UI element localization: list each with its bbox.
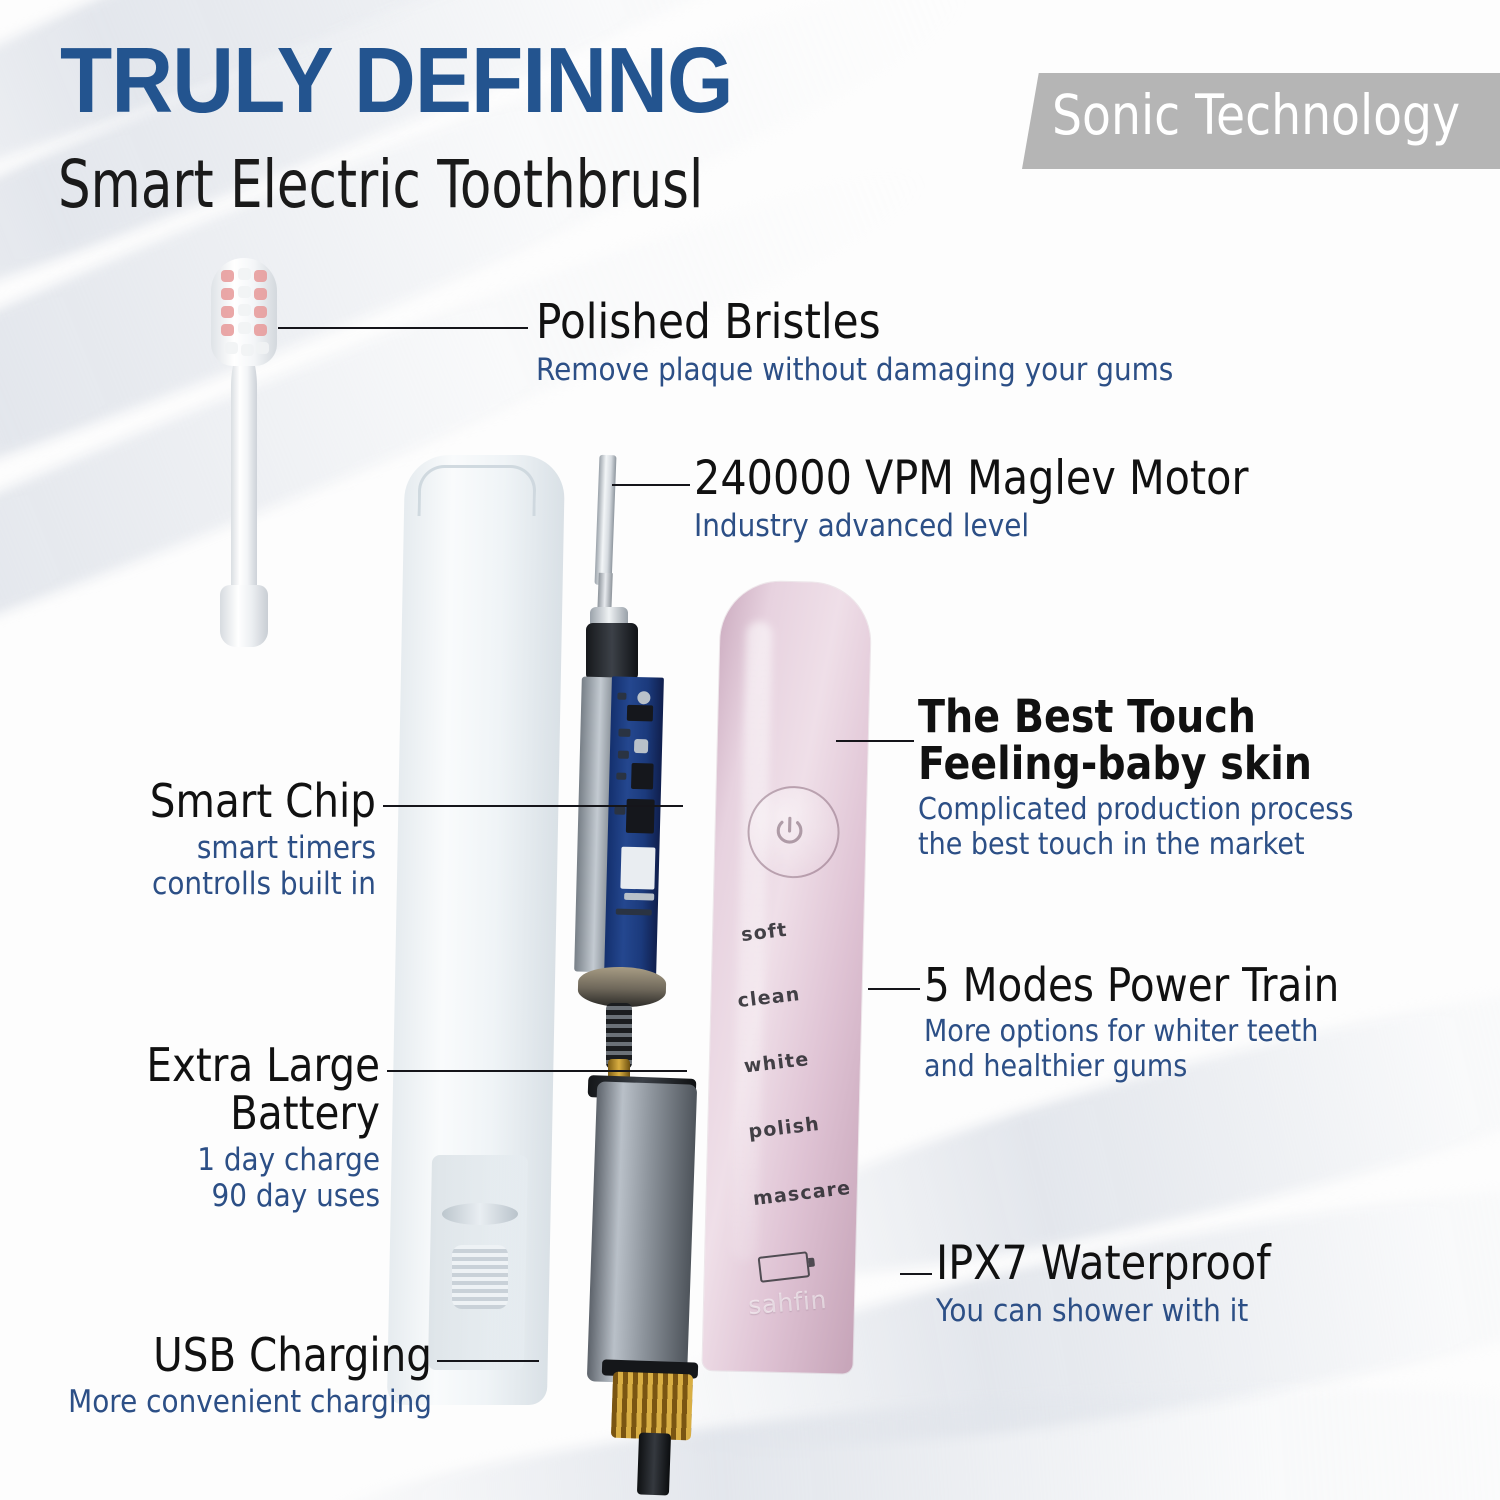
- motor-copper-coil: [611, 1372, 693, 1441]
- infographic-canvas: TRULY DEFINNG Smart Electric Toothbrusl …: [0, 0, 1500, 1500]
- case-charging-coil: [452, 1245, 508, 1309]
- bronze-collar: [577, 966, 666, 1008]
- callout-extra-large-battery: Extra Large Battery 1 day charge 90 day …: [0, 1042, 380, 1215]
- callout-subtitle-line2: and healthier gums: [924, 1049, 1349, 1084]
- callout-title: 240000 VPM Maglev Motor: [694, 455, 1248, 504]
- battery-cell: [587, 1081, 697, 1384]
- callout-subtitle-line2: the best touch in the market: [918, 827, 1353, 862]
- callout-title-line1: The Best Touch: [918, 694, 1344, 741]
- callout-subtitle-line1: smart timers: [38, 830, 376, 867]
- callout-subtitle-line1: 1 day charge: [38, 1142, 380, 1179]
- case-lip: [418, 465, 537, 516]
- leader-line-five-modes: [868, 988, 920, 990]
- toothbrush-handle-image: soft clean white polish mascare sahfin: [702, 580, 871, 1373]
- callout-smart-chip: Smart Chip smart timers controlls built …: [0, 778, 376, 903]
- callout-subtitle: Industry advanced level: [694, 508, 1261, 545]
- callout-subtitle-line1: Complicated production process: [918, 792, 1353, 827]
- mode-label-soft: soft: [740, 919, 789, 946]
- brush-base: [220, 585, 268, 647]
- callout-five-modes: 5 Modes Power Train More options for whi…: [924, 962, 1396, 1085]
- power-icon: [772, 814, 807, 849]
- callout-title: USB Charging: [52, 1332, 432, 1380]
- callout-title: Smart Chip: [45, 778, 376, 826]
- callout-ipx7-waterproof: IPX7 Waterproof You can shower with it: [936, 1240, 1316, 1329]
- leader-line-best-touch: [836, 740, 914, 742]
- bristle-pad: [211, 258, 277, 366]
- callout-title-line2: Feeling-baby skin: [918, 741, 1344, 788]
- leader-line-motor: [612, 484, 690, 486]
- mode-label-mascare: mascare: [752, 1177, 853, 1210]
- leader-line-bristles: [278, 327, 528, 329]
- callout-title: Polished Bristles: [536, 298, 1159, 348]
- callout-polished-bristles: Polished Bristles Remove plaque without …: [536, 298, 1244, 388]
- usb-connector: [637, 1432, 671, 1495]
- callout-usb-charging: USB Charging More convenient charging: [0, 1332, 432, 1420]
- circuit-board: [604, 676, 664, 977]
- brush-head-image: [198, 255, 290, 645]
- callout-subtitle-line2: controlls built in: [38, 866, 376, 903]
- callout-subtitle: You can shower with it: [936, 1293, 1278, 1330]
- black-collar: [586, 623, 638, 681]
- page-subtitle: Smart Electric Toothbrusl: [58, 152, 703, 218]
- callout-subtitle: More convenient charging: [43, 1384, 432, 1421]
- leader-line-battery: [387, 1070, 687, 1072]
- brand-mark: sahfin: [747, 1285, 828, 1320]
- page-title: TRULY DEFINNG: [60, 34, 733, 127]
- battery-icon: [758, 1251, 811, 1283]
- callout-title: IPX7 Waterproof: [936, 1240, 1271, 1289]
- leader-line-usb: [437, 1360, 539, 1362]
- case-charging-ring: [442, 1203, 518, 1225]
- leader-line-smart-chip: [383, 805, 683, 807]
- callout-title: 5 Modes Power Train: [924, 962, 1339, 1010]
- callout-title-line2: Battery: [46, 1090, 380, 1138]
- motor-shaft: [595, 455, 617, 586]
- callout-subtitle-line2: 90 day uses: [38, 1178, 380, 1215]
- callout-best-touch: The Best Touch Feeling-baby skin Complic…: [918, 694, 1402, 862]
- sonic-technology-label: Sonic Technology: [1052, 88, 1460, 143]
- callout-title-line1: Extra Large: [46, 1042, 380, 1090]
- leader-line-ipx7: [900, 1273, 932, 1275]
- callout-subtitle-line1: More options for whiter teeth: [924, 1014, 1349, 1049]
- callout-maglev-motor: 240000 VPM Maglev Motor Industry advance…: [694, 455, 1324, 544]
- callout-subtitle: Remove plaque without damaging your gums: [536, 352, 1173, 389]
- travel-case-image: [396, 455, 556, 1405]
